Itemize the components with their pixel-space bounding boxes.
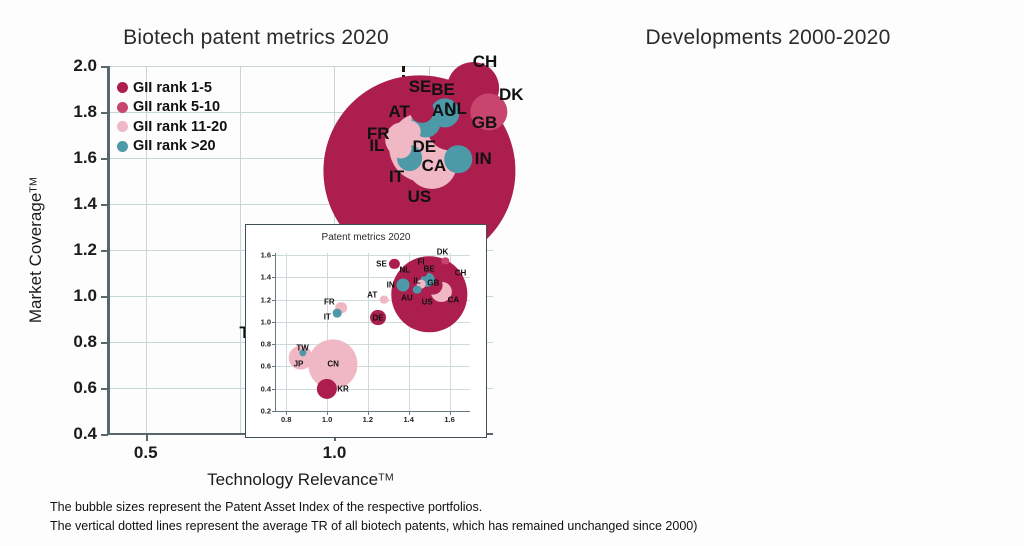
inset-x-label: 0.8 [281,415,291,424]
inset-x-label: 1.6 [444,415,454,424]
inset-bubble-label-IT: IT [324,313,331,322]
inset-bubble-label-NL: NL [400,266,411,275]
y-axis-label: 1.2 [73,240,97,260]
legend-item-1: GII rank 5-10 [117,98,227,118]
inset-bubble-label-BE: BE [424,264,435,273]
y-axis-label: 0.6 [73,378,97,398]
inset-x-axis-line [276,411,470,412]
inset-x-label: 1.4 [404,415,414,424]
inset-bubble-label-AT: AT [367,290,377,299]
bubble-IN [445,145,473,173]
x-axis-label: 0.5 [134,443,158,463]
y-axis-label: 2.0 [73,56,97,76]
inset-bubble-IT [333,309,342,318]
inset-bubble-label-DE: DE [373,313,384,322]
legend-item-2: GII rank 11-20 [117,117,227,137]
inset-y-label: 1.4 [261,273,271,282]
legend-item-label: GII rank 11-20 [133,119,227,135]
inset-x-label: 1.0 [322,415,332,424]
y-axis-line [107,66,110,434]
inset-chart-title: Patent metrics 2020 [246,232,486,243]
inset-bubble-label-US: US [422,298,433,307]
inset-bubble-label-TW: TW [296,344,308,353]
legend-item-label: GII rank 1-5 [133,80,212,96]
y-axis-label: 0.4 [73,424,97,444]
inset-bubble-label-JP: JP [294,359,304,368]
legend-color-swatch [117,82,128,93]
y-axis-label: 1.0 [73,286,97,306]
legend-color-swatch [117,121,128,132]
inset-gridline-vertical [368,253,369,411]
inset-y-axis-line [275,253,276,411]
y-axis-title: Market CoverageTM [26,177,46,323]
inset-chart: Patent metrics 2020 0.20.40.60.81.01.21.… [245,224,487,438]
inset-bubble-SE [389,259,399,269]
inset-y-label: 1.6 [261,251,271,260]
inset-bubble-label-AU: AU [401,293,413,302]
inset-bubble-label-FI: FI [417,257,424,266]
inset-bubble-label-IN: IN [387,281,395,290]
bubble-IL [390,137,411,158]
legend-item-3: GII rank >20 [117,137,227,157]
x-axis-label: 1.0 [323,443,347,463]
inset-y-label: 1.0 [261,317,271,326]
y-axis-label: 1.6 [73,148,97,168]
inset-gridline-horizontal [276,389,470,390]
figure-caption: The bubble sizes represent the Patent As… [50,498,980,536]
inset-bubble-CH [441,266,454,279]
legend-item-label: GII rank 5-10 [133,99,220,115]
y-axis-label: 0.8 [73,332,97,352]
legend-color-swatch [117,102,128,113]
y-axis-label: 1.8 [73,102,97,122]
inset-bubble-label-IL: IL [413,277,420,286]
inset-gridline-vertical [286,253,287,411]
inset-bubble-label-CN: CN [327,360,339,369]
caption-line-1: The bubble sizes represent the Patent As… [50,498,980,517]
gridline-vertical [240,66,241,434]
inset-bubble-label-KR: KR [337,384,349,393]
inset-y-label: 0.4 [261,384,271,393]
inset-bubble-label-CH: CH [455,269,467,278]
legend-item-0: GII rank 1-5 [117,78,227,98]
inset-y-label: 0.8 [261,340,271,349]
right-chart-panel: Developments 2000-2020 0.81.01.21.41.61.… [512,0,1024,490]
inset-y-label: 1.2 [261,295,271,304]
inset-bubble-KR [317,379,337,399]
x-axis-tick [146,434,148,441]
right-chart-title: Developments 2000-2020 [512,26,1024,50]
inset-bubble-AT [380,295,389,304]
inset-bubble-label-CA: CA [448,295,460,304]
x-axis-title: Technology RelevanceTM [207,470,394,490]
caption-line-2: The vertical dotted lines represent the … [50,517,980,536]
y-axis-label: 1.4 [73,194,97,214]
inset-bubble-label-SE: SE [376,260,387,269]
inset-bubble-AU [413,285,422,294]
legend-color-swatch [117,141,128,152]
legend-item-label: GII rank >20 [133,138,216,154]
y-axis-tick [101,434,108,436]
inset-x-label: 1.2 [363,415,373,424]
gridline-horizontal [108,66,493,67]
inset-y-label: 0.2 [261,407,271,416]
biotech-patent-figure: Biotech patent metrics 2020 0.40.60.81.0… [0,0,1024,546]
inset-bubble-label-FR: FR [324,297,335,306]
gii-rank-legend: GII rank 1-5GII rank 5-10GII rank 11-20G… [117,78,227,156]
inset-bubble-IN [396,279,409,292]
inset-bubble-label-DK: DK [437,247,449,256]
inset-y-label: 0.6 [261,362,271,371]
left-chart-panel: Biotech patent metrics 2020 0.40.60.81.0… [0,0,512,490]
left-chart-title: Biotech patent metrics 2020 [0,26,512,50]
inset-plot-area: 0.20.40.60.81.01.21.41.60.81.01.21.41.6U… [276,253,470,411]
inset-bubble-label-GB: GB [427,279,439,288]
